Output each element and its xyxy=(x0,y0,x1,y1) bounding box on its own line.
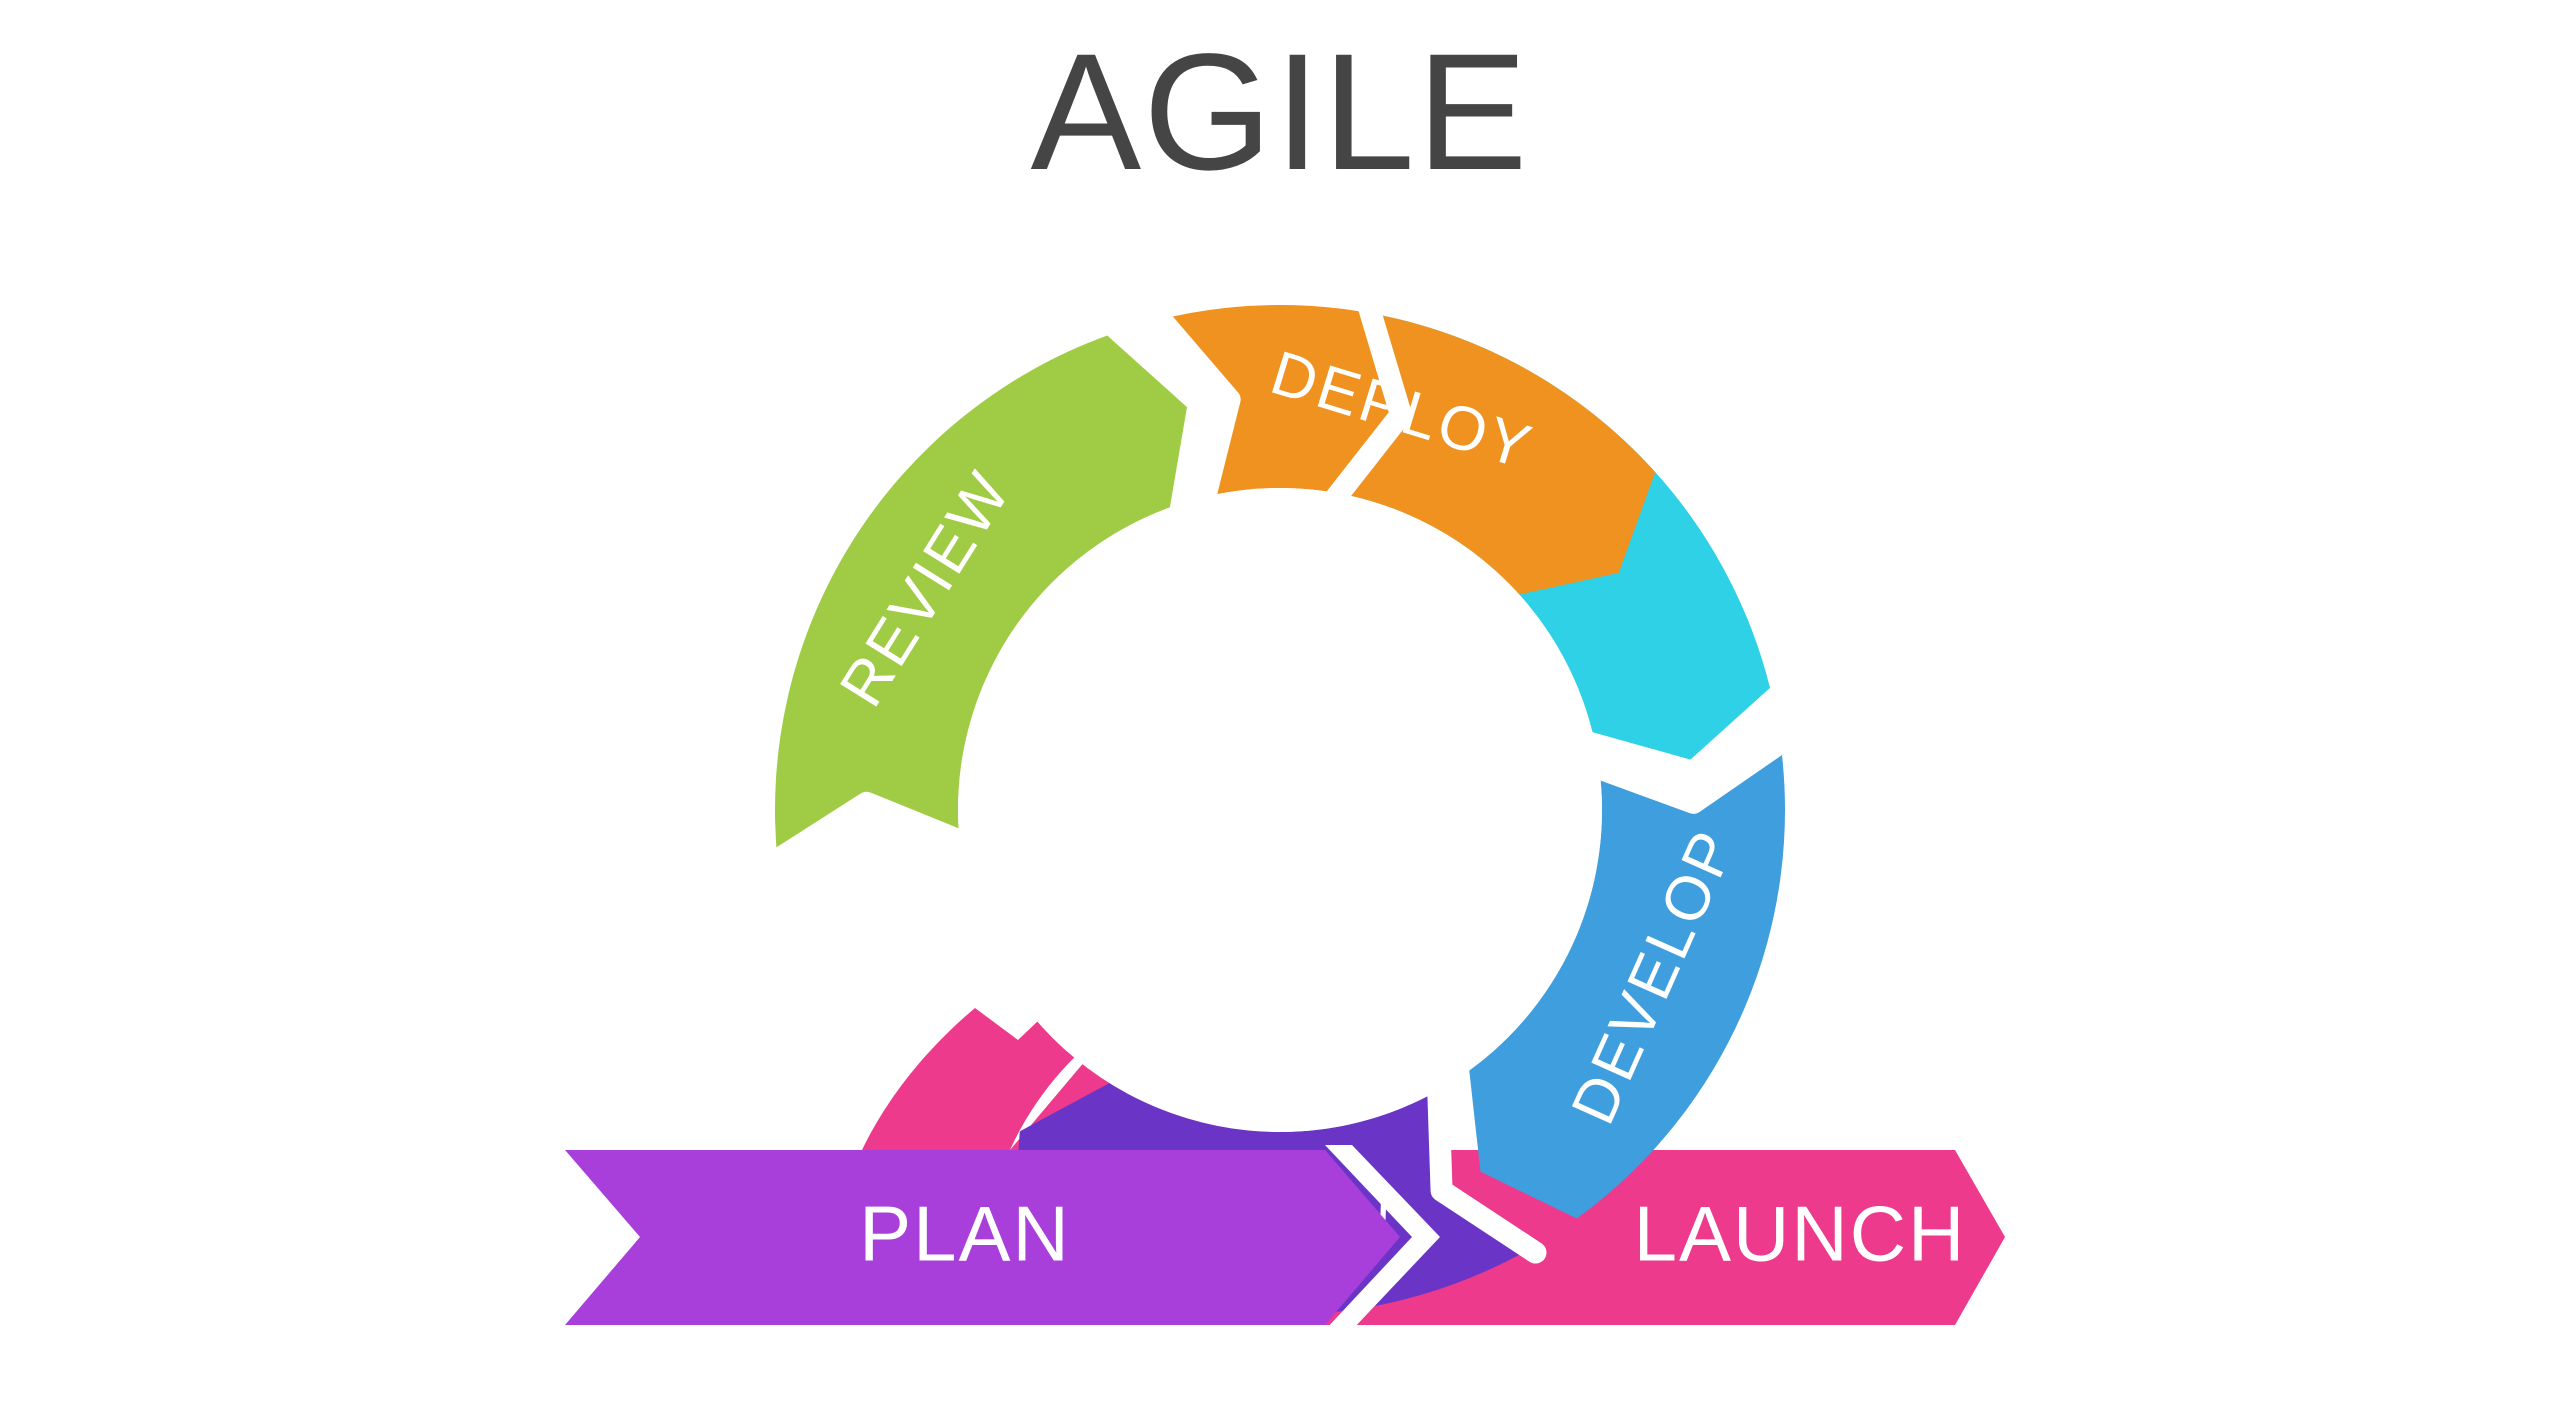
agile-cycle-graphic: TEST DEVELOP DESIGN REVIEW xyxy=(0,0,2560,1420)
banner-arrow-label-launch: LAUNCH xyxy=(1634,1190,1967,1278)
cycle-ring: TEST DEVELOP DESIGN REVIEW xyxy=(565,305,1786,1330)
ring-inner-hole xyxy=(958,488,1602,1132)
banner-arrow-label-plan: PLAN xyxy=(859,1190,1071,1278)
banner-arrow-plan[interactable]: PLAN xyxy=(565,1150,1400,1325)
agile-diagram-canvas: AGILE TEST DEVELOP DESIG xyxy=(0,0,2560,1420)
